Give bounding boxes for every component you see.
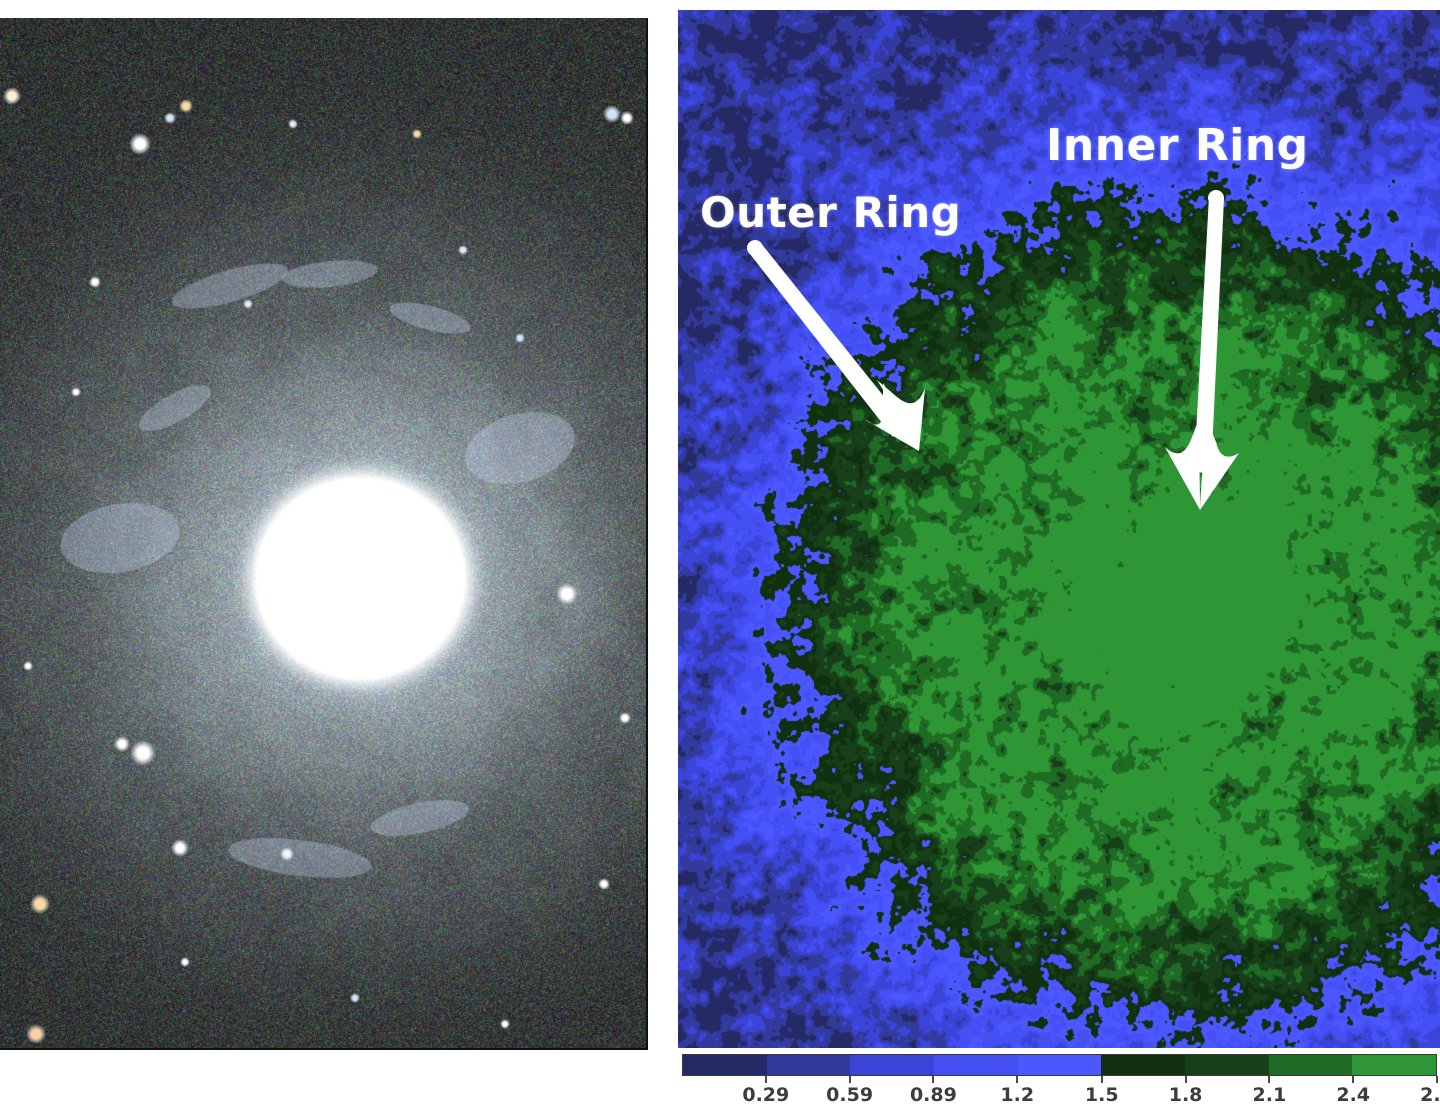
rgb-composite-panel bbox=[0, 18, 648, 1050]
colorbar-tick-2 bbox=[932, 1076, 934, 1083]
contrast-map-canvas bbox=[678, 10, 1440, 1048]
colorbar-tick-labels: 0.290.590.891.21.51.82.12.42.7 bbox=[682, 1084, 1437, 1110]
colorbar-tick-4 bbox=[1101, 1076, 1103, 1083]
colorbar-band-4 bbox=[1018, 1055, 1102, 1075]
rgb-composite-canvas bbox=[0, 18, 648, 1050]
colorbar-tick-label-8: 2.7 bbox=[1420, 1084, 1440, 1106]
colorbar-tick-label-0: 0.29 bbox=[742, 1084, 789, 1106]
colorbar-tick-label-1: 0.59 bbox=[826, 1084, 873, 1106]
colorbar-tick-label-2: 0.89 bbox=[910, 1084, 957, 1106]
colorbar-tick-1 bbox=[849, 1076, 851, 1083]
colorbar-tick-label-4: 1.5 bbox=[1085, 1084, 1119, 1106]
figure-root: Outer Ring Inner Ring 0.290.590.891.21.5… bbox=[0, 0, 1440, 1118]
colorbar-band-2 bbox=[850, 1055, 934, 1075]
colorbar-tick-label-3: 1.2 bbox=[1000, 1084, 1034, 1106]
colorbar-band-3 bbox=[934, 1055, 1018, 1075]
colorbar-band-1 bbox=[767, 1055, 851, 1075]
colorbar-band-8 bbox=[1352, 1055, 1436, 1075]
colorbar-tick-3 bbox=[1016, 1076, 1018, 1083]
colorbar: 0.290.590.891.21.51.82.12.42.7 bbox=[680, 1054, 1440, 1118]
colorbar-band-5 bbox=[1101, 1055, 1185, 1075]
colorbar-tick-label-5: 1.8 bbox=[1169, 1084, 1203, 1106]
colorbar-band-0 bbox=[683, 1055, 767, 1075]
colorbar-band-6 bbox=[1185, 1055, 1269, 1075]
colorbar-tick-label-7: 2.4 bbox=[1336, 1084, 1370, 1106]
colorbar-tick-6 bbox=[1268, 1076, 1270, 1083]
colorbar-band-7 bbox=[1269, 1055, 1353, 1075]
colorbar-tick-0 bbox=[765, 1076, 767, 1083]
colorbar-ticks bbox=[682, 1076, 1437, 1083]
colorbar-tick-8 bbox=[1436, 1076, 1438, 1083]
colorbar-tick-label-6: 2.1 bbox=[1253, 1084, 1287, 1106]
contrast-map-panel bbox=[678, 10, 1440, 1048]
colorbar-gradient bbox=[682, 1054, 1437, 1076]
colorbar-tick-5 bbox=[1185, 1076, 1187, 1083]
colorbar-tick-7 bbox=[1352, 1076, 1354, 1083]
